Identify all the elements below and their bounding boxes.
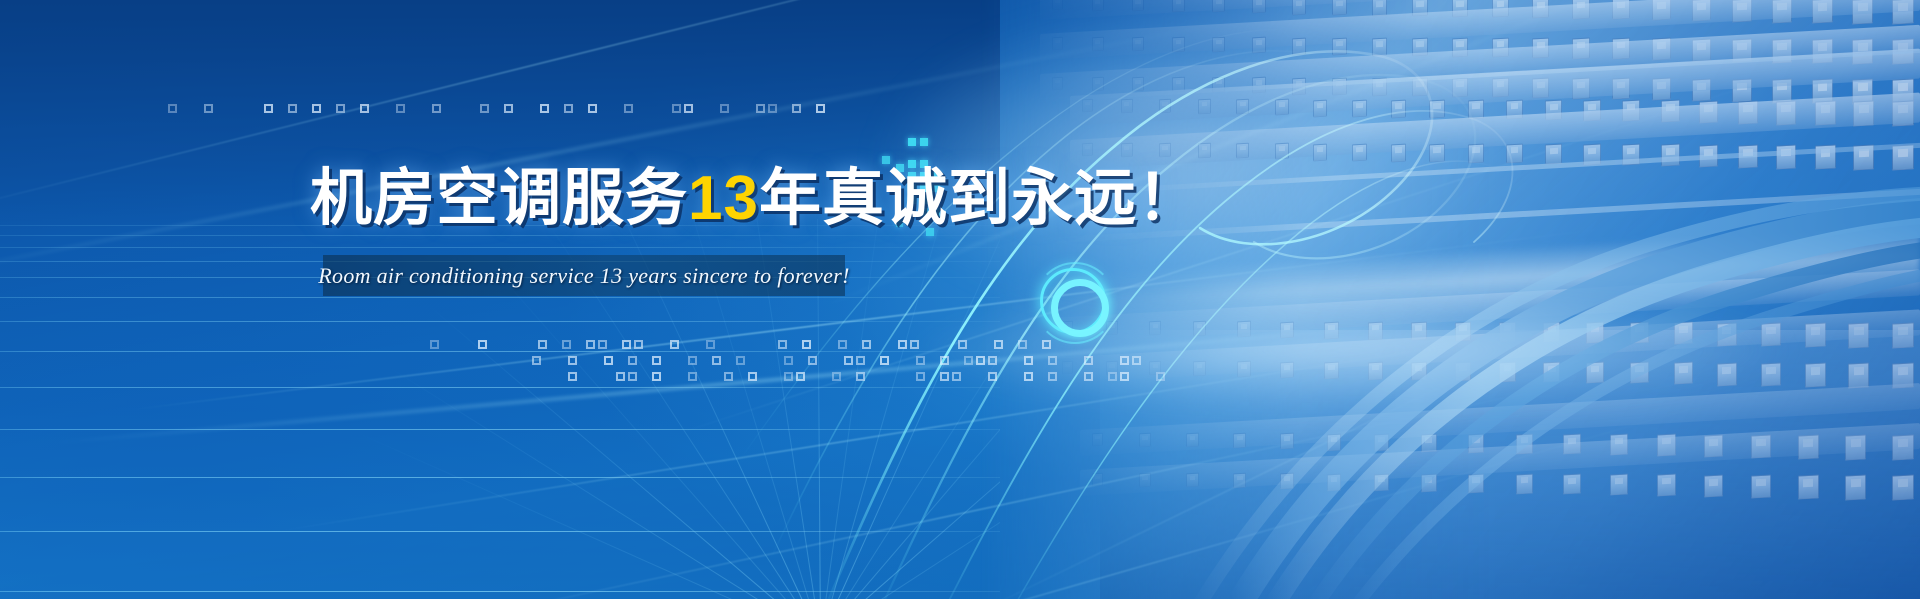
promo-banner: 机房空调服务13年真诚到永远！ Room air conditioning se…	[0, 0, 1920, 599]
headline-suffix: 年真诚到永远！	[759, 164, 1200, 233]
banner-content: 机房空调服务13年真诚到永远！ Room air conditioning se…	[0, 0, 1920, 599]
banner-headline: 机房空调服务13年真诚到永远！	[310, 168, 1200, 230]
banner-subtitle: Room air conditioning service 13 years s…	[323, 255, 845, 296]
headline-highlight-number: 13	[688, 164, 759, 233]
headline-prefix: 机房空调服务	[310, 164, 688, 233]
